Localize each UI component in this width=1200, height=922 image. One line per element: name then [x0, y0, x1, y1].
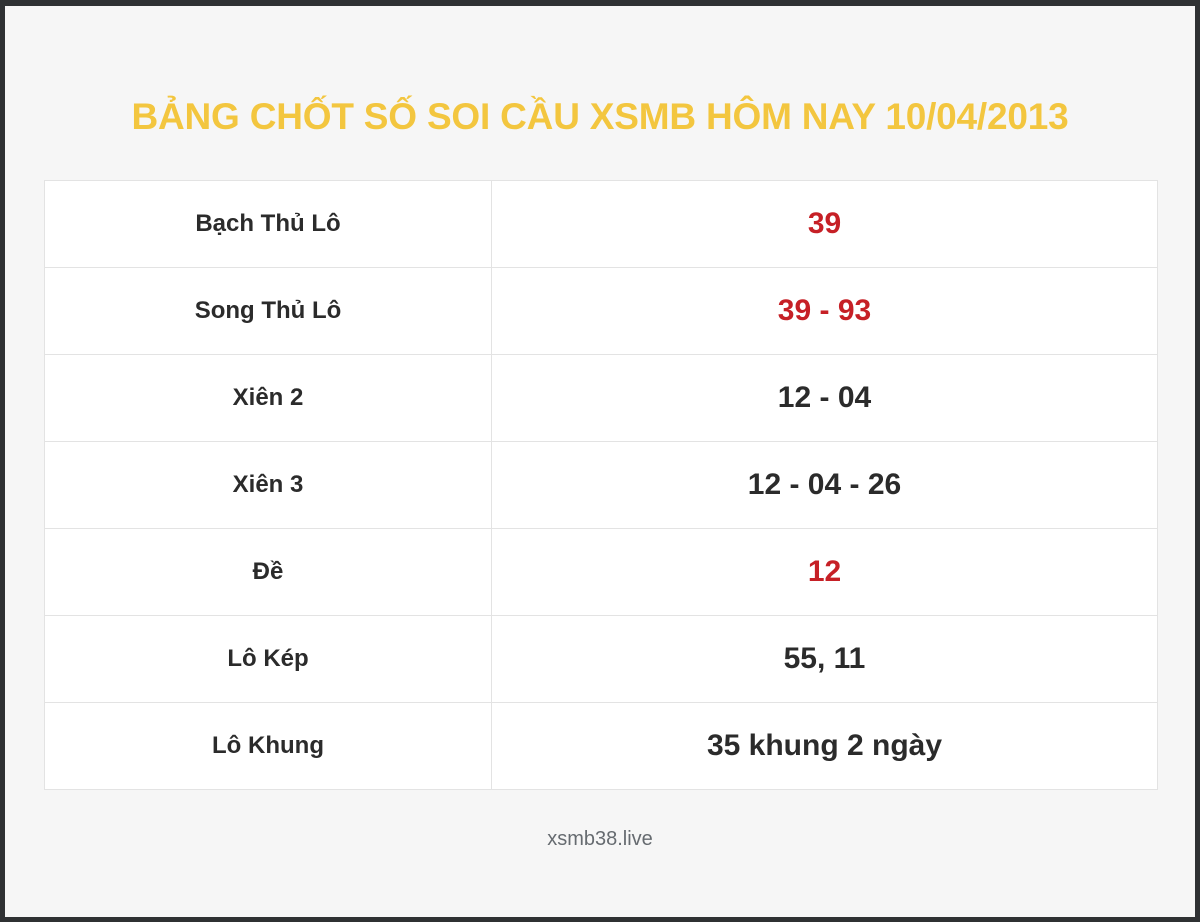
row-value: 55, 11 [492, 616, 1158, 703]
table-row: Song Thủ Lô39 - 93 [45, 268, 1158, 355]
table-row: Xiên 312 - 04 - 26 [45, 442, 1158, 529]
row-value: 39 [492, 181, 1158, 268]
row-value: 35 khung 2 ngày [492, 703, 1158, 790]
row-value: 39 - 93 [492, 268, 1158, 355]
table-row: Đề12 [45, 529, 1158, 616]
page-canvas: BẢNG CHỐT SỐ SOI CẦU XSMB HÔM NAY 10/04/… [5, 6, 1195, 917]
row-label: Lô Kép [45, 616, 492, 703]
row-value: 12 - 04 - 26 [492, 442, 1158, 529]
row-value: 12 [492, 529, 1158, 616]
row-label: Song Thủ Lô [45, 268, 492, 355]
row-value: 12 - 04 [492, 355, 1158, 442]
table-body: Bạch Thủ Lô39Song Thủ Lô39 - 93Xiên 212 … [45, 181, 1158, 790]
table-row: Lô Kép55, 11 [45, 616, 1158, 703]
table-row: Xiên 212 - 04 [45, 355, 1158, 442]
soi-cau-table: Bạch Thủ Lô39Song Thủ Lô39 - 93Xiên 212 … [44, 180, 1158, 790]
row-label: Xiên 2 [45, 355, 492, 442]
row-label: Lô Khung [45, 703, 492, 790]
table-row: Lô Khung35 khung 2 ngày [45, 703, 1158, 790]
row-label: Đề [45, 529, 492, 616]
site-watermark: xsmb38.live [5, 829, 1195, 849]
row-label: Xiên 3 [45, 442, 492, 529]
table-row: Bạch Thủ Lô39 [45, 181, 1158, 268]
page-title: BẢNG CHỐT SỐ SOI CẦU XSMB HÔM NAY 10/04/… [5, 98, 1195, 135]
row-label: Bạch Thủ Lô [45, 181, 492, 268]
